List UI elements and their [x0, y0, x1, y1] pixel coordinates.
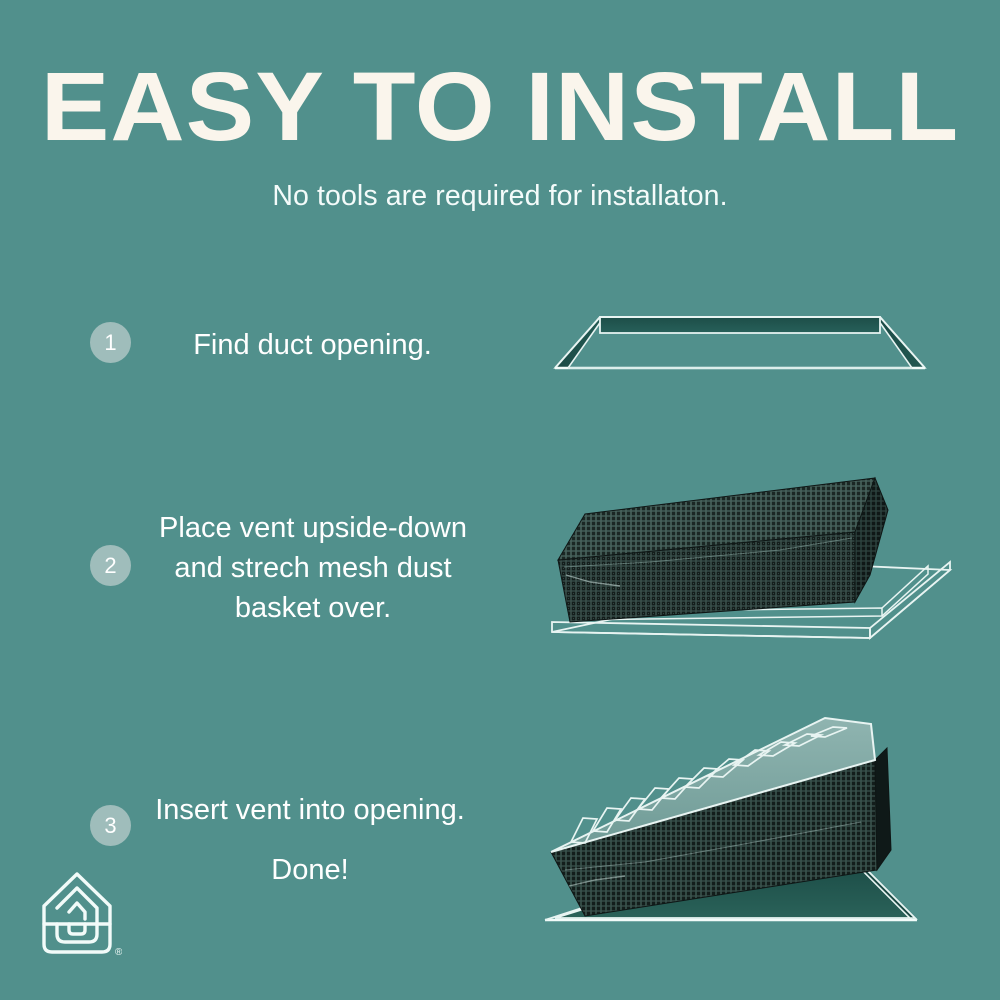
home-outline-logo: ® [36, 862, 122, 962]
logo-inner-peak [69, 903, 85, 919]
logo-registered-trademark: ® [115, 947, 122, 958]
vent-with-mesh-basket-illustration [530, 470, 960, 660]
step-2-text: Place vent upside-down and strech mesh d… [128, 508, 498, 628]
step-3-line-2: Done! [120, 840, 500, 900]
poster-canvas: EASY TO INSTALL No tools are required fo… [0, 0, 1000, 1000]
step-1-number-badge: 1 [90, 322, 131, 363]
logo-middle-house [57, 888, 97, 924]
page-subtitle: No tools are required for installaton. [0, 180, 1000, 213]
step-2-line-1: Place vent upside-down [128, 508, 498, 548]
step-2-line-2: and strech mesh dust [128, 548, 498, 588]
step-3-text: Insert vent into opening. Done! [120, 780, 500, 900]
vent-inserted-into-opening-illustration [525, 690, 965, 950]
step-1-text: Find duct opening. [140, 325, 485, 365]
logo-outer-house [44, 874, 110, 952]
step-2-number-badge: 2 [90, 545, 131, 586]
step-2-line-3: basket over. [128, 588, 498, 628]
duct-back-wall [600, 317, 880, 333]
duct-opening-illustration [530, 290, 950, 400]
vent-mesh-right-face [875, 748, 891, 870]
step-3-line-1: Insert vent into opening. [120, 780, 500, 840]
page-title: EASY TO INSTALL [0, 58, 1000, 155]
step-1-line-1: Find duct opening. [140, 325, 485, 365]
